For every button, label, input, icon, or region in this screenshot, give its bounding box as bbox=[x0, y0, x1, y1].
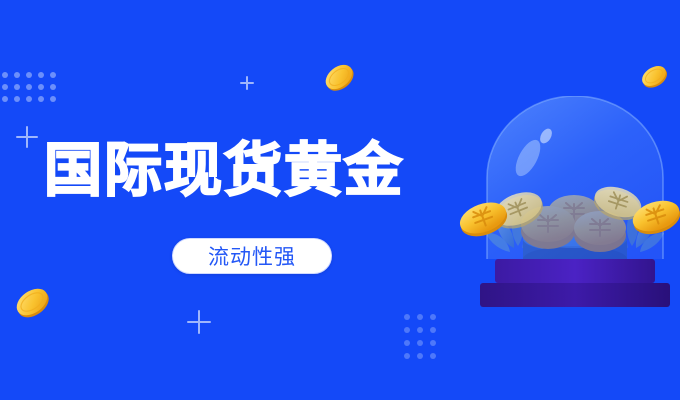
dot bbox=[26, 96, 32, 102]
dot bbox=[38, 96, 44, 102]
dot bbox=[430, 327, 436, 333]
dot bbox=[404, 314, 410, 320]
dot bbox=[26, 72, 32, 78]
dot bbox=[404, 340, 410, 346]
dot bbox=[417, 314, 423, 320]
dot-grid-bottom-middle bbox=[404, 314, 436, 359]
dot bbox=[2, 96, 8, 102]
dot bbox=[26, 84, 32, 90]
dot bbox=[417, 340, 423, 346]
gold-coin-icon bbox=[318, 56, 360, 98]
dot-grid-top-left bbox=[0, 72, 56, 102]
status-badge: 流动性强 bbox=[172, 238, 332, 274]
dot bbox=[404, 353, 410, 359]
dot bbox=[38, 72, 44, 78]
promo-banner: 国际现货黄金 流动性强 bbox=[0, 0, 680, 400]
dot bbox=[14, 96, 20, 102]
plus-icon bbox=[187, 310, 211, 334]
gold-coin-icon bbox=[455, 196, 511, 240]
dot bbox=[417, 353, 423, 359]
dot bbox=[430, 340, 436, 346]
dot bbox=[2, 84, 8, 90]
dot bbox=[2, 72, 8, 78]
base-steps bbox=[480, 259, 670, 307]
dot bbox=[50, 96, 56, 102]
page-title: 国际现货黄金 bbox=[44, 142, 404, 200]
gold-coin-icon bbox=[628, 194, 680, 238]
plus-icon bbox=[240, 76, 254, 90]
dot bbox=[50, 72, 56, 78]
dot bbox=[430, 314, 436, 320]
dot bbox=[14, 84, 20, 90]
plus-icon bbox=[16, 126, 38, 148]
dot bbox=[38, 84, 44, 90]
dot bbox=[417, 327, 423, 333]
gold-coin-icon bbox=[636, 58, 672, 94]
gold-coin-icon bbox=[8, 278, 56, 326]
dot bbox=[404, 327, 410, 333]
status-badge-label: 流动性强 bbox=[208, 241, 296, 271]
dot bbox=[430, 353, 436, 359]
dot bbox=[14, 72, 20, 78]
dot bbox=[50, 84, 56, 90]
